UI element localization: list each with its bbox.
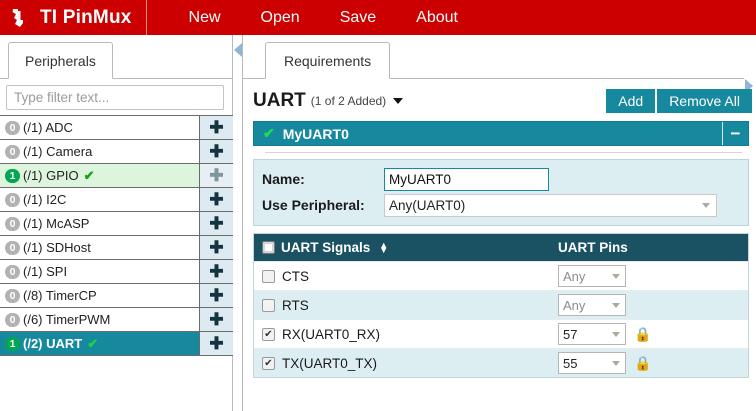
name-row: Name: (254, 166, 748, 192)
peripheral-label: (/1) McASP (23, 216, 89, 231)
peripheral-count-badge: 0 (5, 121, 20, 135)
requirements-tabstrip: Requirements (243, 35, 756, 79)
peripheral-count-badge: 0 (5, 265, 20, 279)
peripheral-row-timerpwm[interactable]: 0(/6) TimerPWM✚ (0, 308, 233, 332)
requirements-header: UART (1 of 2 Added) Add Remove All (243, 85, 756, 117)
peripheral-row-content: 0(/6) TimerPWM (0, 308, 199, 331)
signals-row-container: CTSAnyRTSAnyRX(UART0_RX)57🔒TX(UART0_TX)5… (254, 261, 748, 377)
peripheral-label: (/1) ADC (23, 120, 73, 135)
menu-item-about[interactable]: About (396, 0, 478, 35)
instance-name-label: MyUART0 (283, 126, 349, 142)
signals-table-header: UART Signals ▲▼ UART Pins (254, 234, 748, 261)
requirements-panel: Requirements UART (1 of 2 Added) Add Rem… (243, 35, 756, 411)
menu-item-save[interactable]: Save (320, 0, 396, 35)
signal-checkbox[interactable] (262, 357, 275, 370)
plus-icon[interactable]: ✚ (199, 332, 233, 355)
peripheral-row-mcasp[interactable]: 0(/1) McASP✚ (0, 212, 233, 236)
signal-name-cell: CTS (254, 269, 558, 284)
peripheral-count-badge: 0 (5, 145, 20, 159)
signal-label: TX(UART0_TX) (282, 356, 377, 371)
ti-logo-icon (8, 6, 34, 30)
peripheral-list: 0(/1) ADC✚0(/1) Camera✚1(/1) GPIO✔✚0(/1)… (0, 115, 233, 356)
plus-icon[interactable]: ✚ (199, 188, 233, 211)
peripheral-row-content: 1(/1) GPIO✔ (0, 164, 199, 187)
instance-header-bar[interactable]: ✔ MyUART0 − (253, 121, 749, 146)
peripheral-count-badge: 0 (5, 313, 20, 327)
pin-value: 57 (563, 327, 577, 342)
plus-icon[interactable]: ✚ (199, 164, 233, 187)
header-buttons: Add Remove All (606, 89, 752, 113)
check-icon: ✔ (263, 125, 275, 142)
peripheral-label: (/1) I2C (23, 192, 66, 207)
signal-label: RTS (282, 298, 309, 313)
peripheral-row-adc[interactable]: 0(/1) ADC✚ (0, 116, 233, 140)
plus-icon[interactable]: ✚ (199, 212, 233, 235)
sort-updown-icon[interactable]: ▲▼ (379, 243, 388, 253)
signal-checkbox[interactable] (262, 270, 275, 283)
remove-all-button[interactable]: Remove All (657, 89, 752, 113)
chevron-down-icon (702, 203, 710, 208)
signal-label: CTS (282, 269, 309, 284)
pin-select[interactable]: 55 (558, 352, 626, 374)
pin-cell: 55🔒 (558, 352, 748, 374)
peripheral-row-content: 0(/1) SPI (0, 260, 199, 283)
chevron-down-icon (612, 303, 620, 308)
signal-row[interactable]: RX(UART0_RX)57🔒 (254, 319, 748, 348)
peripheral-row-camera[interactable]: 0(/1) Camera✚ (0, 140, 233, 164)
main-content: Peripherals 0(/1) ADC✚0(/1) Camera✚1(/1)… (0, 35, 756, 411)
signal-name-cell: RX(UART0_RX) (254, 327, 558, 342)
peripheral-label: (/6) TimerPWM (23, 312, 110, 327)
peripheral-label: (/1) Camera (23, 144, 92, 159)
signal-row[interactable]: CTSAny (254, 261, 748, 290)
signal-checkbox[interactable] (262, 299, 275, 312)
plus-icon[interactable]: ✚ (199, 236, 233, 259)
plus-icon[interactable]: ✚ (199, 116, 233, 139)
peripheral-label: (/2) UART (23, 336, 82, 351)
check-icon: ✔ (84, 168, 95, 184)
use-peripheral-row: Use Peripheral: Any(UART0) (254, 192, 748, 218)
use-peripheral-select[interactable]: Any(UART0) (384, 194, 717, 217)
peripheral-row-gpio[interactable]: 1(/1) GPIO✔✚ (0, 164, 233, 188)
add-button[interactable]: Add (606, 89, 655, 113)
pin-select[interactable]: Any (558, 294, 626, 316)
signal-name-cell: RTS (254, 298, 558, 313)
peripheral-count-badge: 0 (5, 217, 20, 231)
peripheral-count-badge: 0 (5, 241, 20, 255)
name-input[interactable] (384, 168, 549, 191)
peripherals-panel: Peripherals 0(/1) ADC✚0(/1) Camera✚1(/1)… (0, 35, 233, 411)
pin-cell: 57🔒 (558, 323, 748, 345)
minus-icon[interactable]: − (722, 122, 748, 145)
signal-label: RX(UART0_RX) (282, 327, 380, 342)
added-count-label: (1 of 2 Added) (311, 94, 386, 108)
peripheral-count-badge: 0 (5, 193, 20, 207)
signals-column-label: UART Signals (281, 240, 370, 255)
pins-column-header: UART Pins (558, 240, 748, 255)
peripheral-row-content: 1(/2) UART✔ (0, 332, 199, 355)
peripheral-row-content: 0(/1) I2C (0, 188, 199, 211)
header-divider (146, 0, 147, 35)
chevron-down-icon (612, 361, 620, 366)
pin-cell: Any (558, 265, 748, 287)
signals-column-header: UART Signals ▲▼ (254, 240, 558, 255)
name-label: Name: (262, 171, 384, 187)
app-header: TI PinMux New Open Save About (0, 0, 756, 35)
plus-icon[interactable]: ✚ (199, 284, 233, 307)
caret-down-icon[interactable] (393, 98, 403, 104)
peripheral-row-content: 0(/1) ADC (0, 116, 199, 139)
pin-select[interactable]: 57 (558, 323, 626, 345)
peripherals-tabstrip: Peripherals (0, 35, 232, 79)
select-all-checkbox[interactable] (262, 241, 275, 254)
main-menu: New Open Save About (169, 0, 478, 35)
peripheral-label: (/1) GPIO (23, 168, 79, 183)
caret-left-icon[interactable] (234, 43, 242, 57)
lock-icon[interactable]: 🔒 (634, 326, 651, 343)
peripheral-row-uart[interactable]: 1(/2) UART✔✚ (0, 332, 233, 356)
peripheral-row-content: 0(/1) McASP (0, 212, 199, 235)
instance-form: Name: Use Peripheral: Any(UART0) (253, 159, 749, 226)
section-divider (265, 152, 742, 153)
peripheral-label: (/1) SPI (23, 264, 67, 279)
use-peripheral-value: Any(UART0) (389, 198, 465, 213)
use-peripheral-label: Use Peripheral: (262, 197, 384, 213)
tab-requirements[interactable]: Requirements (265, 42, 390, 79)
peripheral-row-sdhost[interactable]: 0(/1) SDHost✚ (0, 236, 233, 260)
peripheral-row-timercp[interactable]: 0(/8) TimerCP✚ (0, 284, 233, 308)
page-title: UART (253, 90, 306, 112)
pin-select[interactable]: Any (558, 265, 626, 287)
check-icon: ✔ (87, 336, 98, 352)
lock-icon[interactable]: 🔒 (634, 355, 651, 372)
pin-value: Any (563, 269, 585, 284)
signal-checkbox[interactable] (262, 328, 275, 341)
signal-row[interactable]: TX(UART0_TX)55🔒 (254, 348, 748, 377)
pin-value: Any (563, 298, 585, 313)
plus-icon[interactable]: ✚ (199, 140, 233, 163)
menu-item-open[interactable]: Open (241, 0, 320, 35)
pin-cell: Any (558, 294, 748, 316)
peripheral-row-content: 0(/1) Camera (0, 140, 199, 163)
menu-item-new[interactable]: New (169, 0, 241, 35)
plus-icon[interactable]: ✚ (199, 308, 233, 331)
peripheral-filter-input[interactable] (6, 85, 224, 110)
chevron-down-icon (612, 274, 620, 279)
signals-table: UART Signals ▲▼ UART Pins CTSAnyRTSAnyRX… (253, 233, 749, 378)
peripheral-row-spi[interactable]: 0(/1) SPI✚ (0, 260, 233, 284)
peripheral-row-content: 0(/1) SDHost (0, 236, 199, 259)
peripheral-row-content: 0(/8) TimerCP (0, 284, 199, 307)
panel-splitter[interactable] (233, 35, 243, 411)
pin-value: 55 (563, 356, 577, 371)
peripheral-label: (/1) SDHost (23, 240, 91, 255)
signal-name-cell: TX(UART0_TX) (254, 356, 558, 371)
peripheral-label: (/8) TimerCP (23, 288, 97, 303)
peripheral-count-badge: 1 (5, 169, 20, 183)
filter-wrapper (0, 79, 232, 115)
peripheral-count-badge: 0 (5, 289, 20, 303)
plus-icon[interactable]: ✚ (199, 260, 233, 283)
peripheral-row-i2c[interactable]: 0(/1) I2C✚ (0, 188, 233, 212)
app-title: TI PinMux (40, 7, 146, 29)
peripheral-count-badge: 1 (5, 337, 20, 351)
tab-peripherals[interactable]: Peripherals (8, 42, 113, 79)
chevron-down-icon (612, 332, 620, 337)
signal-row[interactable]: RTSAny (254, 290, 748, 319)
